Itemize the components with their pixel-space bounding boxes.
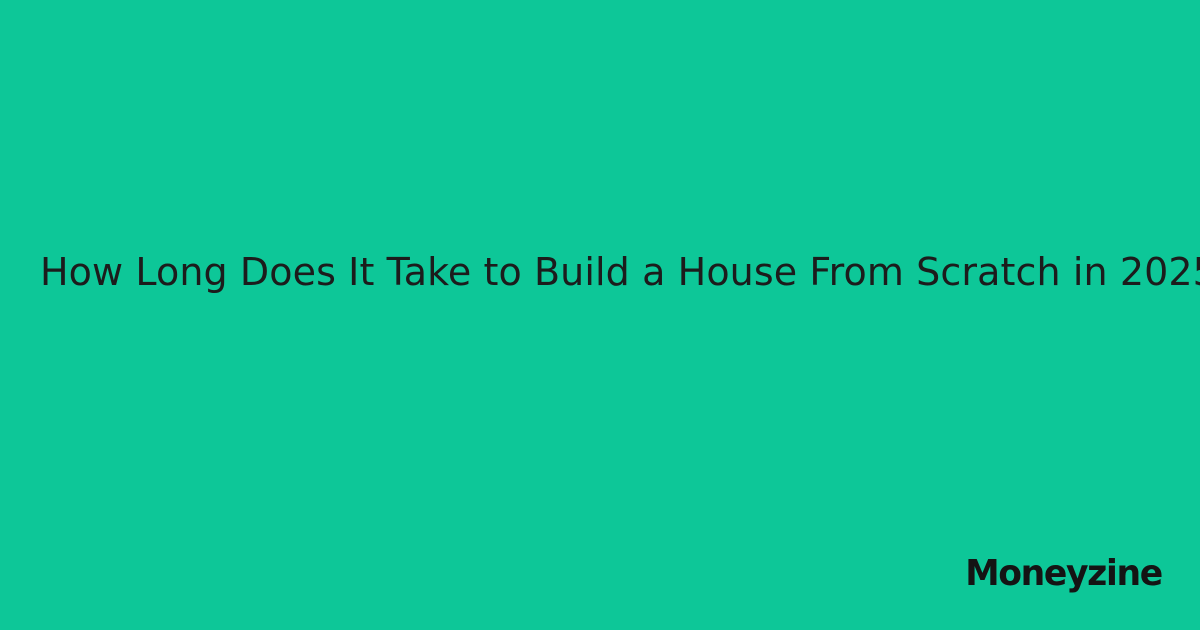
page-title: How Long Does It Take to Build a House F… <box>40 248 1130 297</box>
moneyzine-logo: Moneyzine <box>965 556 1162 592</box>
social-share-card: How Long Does It Take to Build a House F… <box>0 0 1200 630</box>
